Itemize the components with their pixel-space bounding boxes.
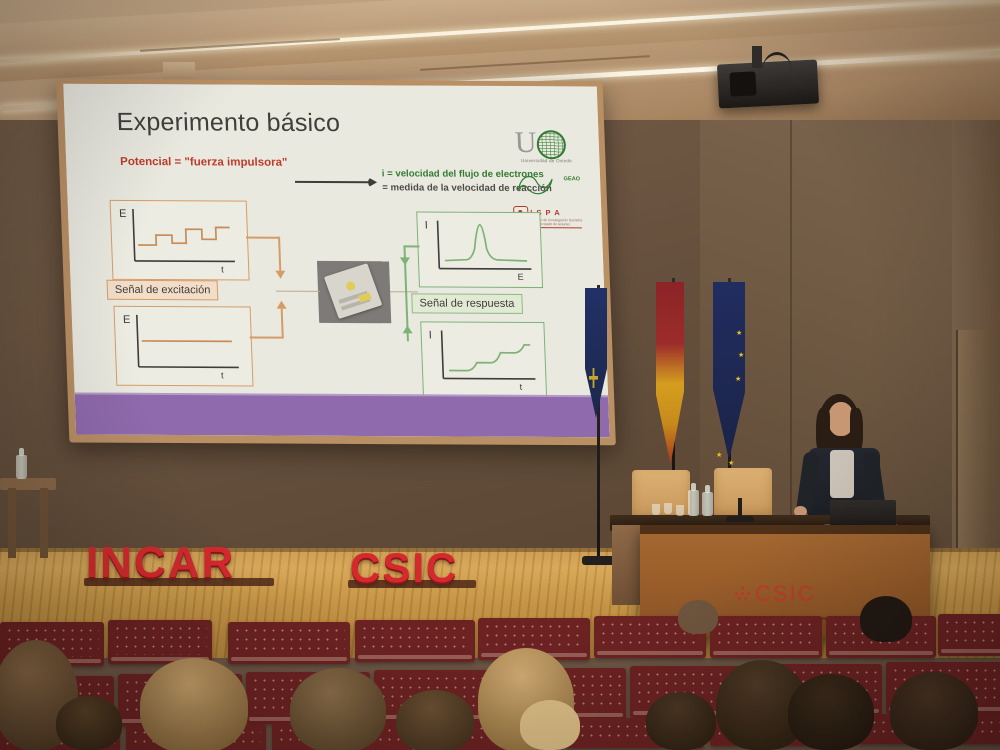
presentation-slide: Experimento básico Potencial = "fuerza i… xyxy=(63,84,609,438)
side-table-leg-2 xyxy=(40,488,48,558)
side-door xyxy=(956,330,992,560)
connector-electrode-in xyxy=(276,291,320,293)
eu-star-icon-5: ★ xyxy=(728,460,734,467)
svg-text:t: t xyxy=(221,264,224,274)
svg-text:E: E xyxy=(517,272,523,282)
flagpole-base-asturias xyxy=(582,556,616,565)
podium-microphone xyxy=(738,498,742,518)
voltammogram-icon xyxy=(514,169,557,199)
connector-excitation-vert xyxy=(278,237,281,273)
audience-head xyxy=(860,596,912,642)
glass-1 xyxy=(652,504,660,515)
glass-2 xyxy=(664,503,672,514)
svg-text:E: E xyxy=(119,208,127,220)
seat xyxy=(355,620,475,662)
lecture-hall-photo: Experimento básico Potencial = "fuerza i… xyxy=(0,0,1000,750)
projector-lens xyxy=(729,71,756,96)
wall-panel-seam xyxy=(790,120,792,540)
connector-response-vert xyxy=(281,309,284,338)
slide-subtitle: Potencial = "fuerza impulsora" xyxy=(120,156,288,169)
slide-title: Experimento básico xyxy=(116,108,340,138)
audience-head xyxy=(290,668,386,750)
screen-surface: Experimento básico Potencial = "fuerza i… xyxy=(63,84,609,438)
geao-logo: GEAO xyxy=(508,169,587,203)
audience-head xyxy=(140,658,248,750)
csic-podium-logo: CSIC xyxy=(735,581,816,607)
side-table-leg xyxy=(8,488,16,558)
globe-icon xyxy=(536,130,566,159)
water-bottle-2 xyxy=(702,492,713,516)
presenter-shirt xyxy=(830,450,854,498)
excitation-signal-label: Señal de excitación xyxy=(106,280,218,301)
chair-right xyxy=(714,468,772,520)
audience-head xyxy=(396,690,474,750)
connector-excitation-down xyxy=(246,237,280,239)
audience-head xyxy=(678,600,718,634)
audience-head xyxy=(56,696,122,750)
csic-sigil-icon xyxy=(735,587,750,602)
universidad-oviedo-logo: U Universidad de Oviedo xyxy=(506,128,585,166)
geao-text: GEAO xyxy=(564,176,581,182)
eu-star-icon-2: ★ xyxy=(738,352,744,359)
connector-green-top xyxy=(403,245,419,247)
audience-head xyxy=(788,674,874,750)
arrow-down-icon-1 xyxy=(275,271,285,279)
uo-caption: Universidad de Oviedo xyxy=(507,158,585,163)
seat xyxy=(710,616,822,658)
uo-letter: U xyxy=(514,128,537,158)
svg-text:I: I xyxy=(429,329,433,341)
arrow-down-icon-2 xyxy=(400,257,410,265)
glass-3 xyxy=(676,505,684,516)
electrode-chip xyxy=(324,263,382,319)
eu-star-icon-4: ★ xyxy=(716,452,722,459)
seat xyxy=(938,614,1000,656)
arrow-right-icon xyxy=(295,177,380,187)
svg-text:E: E xyxy=(123,314,131,326)
presenter-laptop-screen xyxy=(830,500,896,526)
csic-podium-text: CSIC xyxy=(755,581,816,607)
svg-text:I: I xyxy=(425,220,429,232)
plot-staircase-current: I t xyxy=(420,321,547,398)
arrow-up-icon-2 xyxy=(402,325,412,333)
screen-printed-electrode-photo xyxy=(317,261,391,323)
response-signal-label: Señal de respuesta xyxy=(411,293,523,314)
eu-star-icon-3: ★ xyxy=(735,376,741,383)
eu-star-icon-1: ★ xyxy=(736,330,742,337)
plot-staircase-potential: E t xyxy=(110,200,250,281)
audience-head xyxy=(520,700,580,750)
audience-head xyxy=(890,672,978,750)
incar-floor-sign: INCAR xyxy=(86,538,235,588)
microphone-stand xyxy=(726,516,754,522)
svg-text:t: t xyxy=(221,370,224,380)
plot-peak-current: I E xyxy=(416,211,543,288)
water-bottle-side xyxy=(16,455,27,479)
arrow-up-icon-1 xyxy=(276,301,286,309)
audience-head xyxy=(646,692,716,750)
svg-text:t: t xyxy=(520,382,523,392)
connector-response-up xyxy=(250,336,284,338)
csic-floor-sign: CSIC xyxy=(350,544,458,592)
water-bottle-1 xyxy=(688,490,699,516)
slide-bottom-band xyxy=(75,393,610,438)
projection-screen: Experimento básico Potencial = "fuerza i… xyxy=(56,79,616,446)
projector-mount xyxy=(752,46,762,68)
seat xyxy=(228,622,350,664)
plot-constant-potential: E t xyxy=(113,306,253,387)
